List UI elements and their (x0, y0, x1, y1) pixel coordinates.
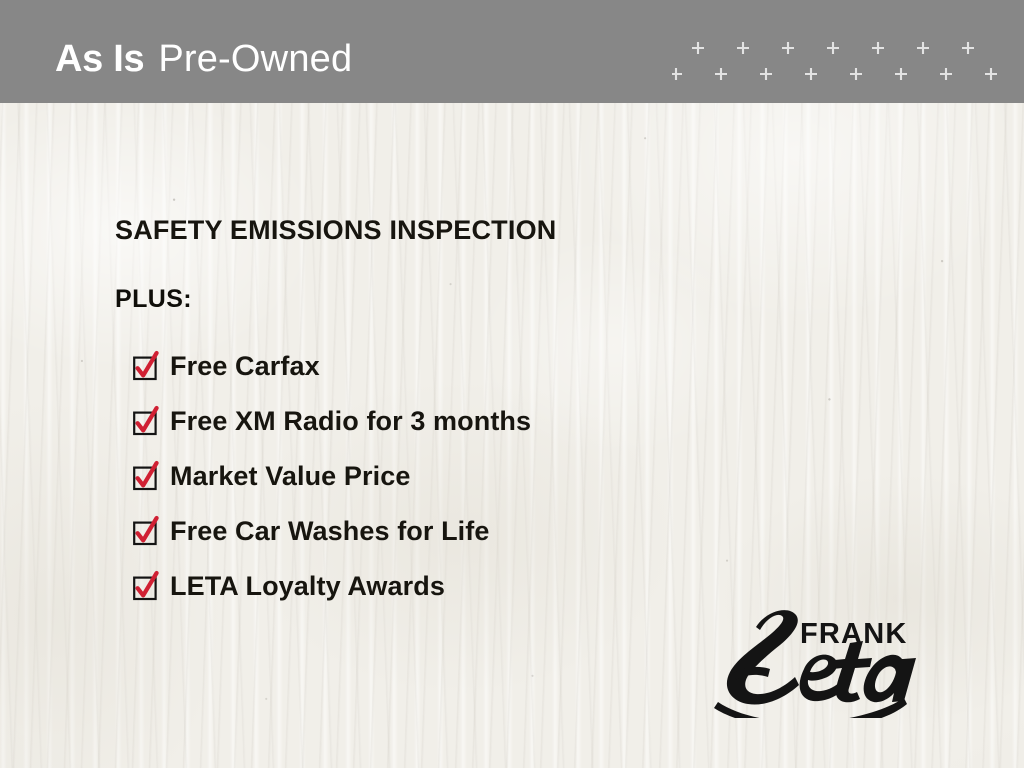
list-item: Market Value Price (133, 448, 833, 503)
list-item: Free Car Washes for Life (133, 503, 833, 558)
checked-checkbox-icon (133, 351, 159, 381)
list-item-label: Market Value Price (170, 461, 410, 491)
list-item-label: Free Car Washes for Life (170, 516, 490, 546)
header-bar: As IsPre-Owned (0, 0, 1024, 103)
checked-checkbox-icon (133, 406, 159, 436)
page-title-bold: As Is (55, 38, 144, 80)
plus-label: PLUS: (115, 285, 192, 314)
checked-checkbox-icon (133, 461, 159, 491)
page-title: As IsPre-Owned (55, 37, 352, 81)
checked-checkbox-icon (133, 571, 159, 601)
slide-canvas: As IsPre-Owned (0, 0, 1024, 768)
benefits-list: Free Carfax Free XM Radio for 3 months (133, 338, 833, 613)
checked-checkbox-icon (133, 516, 159, 546)
plus-pattern-icon (672, 36, 1002, 92)
list-item-label: Free Carfax (170, 351, 320, 381)
list-item: Free Carfax (133, 338, 833, 393)
list-item-label: Free XM Radio for 3 months (170, 406, 531, 436)
frank-leta-logo: FRANK (700, 603, 920, 718)
headline-text: SAFETY EMISSIONS INSPECTION (115, 215, 556, 246)
list-item: Free XM Radio for 3 months (133, 393, 833, 448)
list-item-label: LETA Loyalty Awards (170, 571, 445, 601)
page-title-regular: Pre-Owned (158, 38, 352, 80)
